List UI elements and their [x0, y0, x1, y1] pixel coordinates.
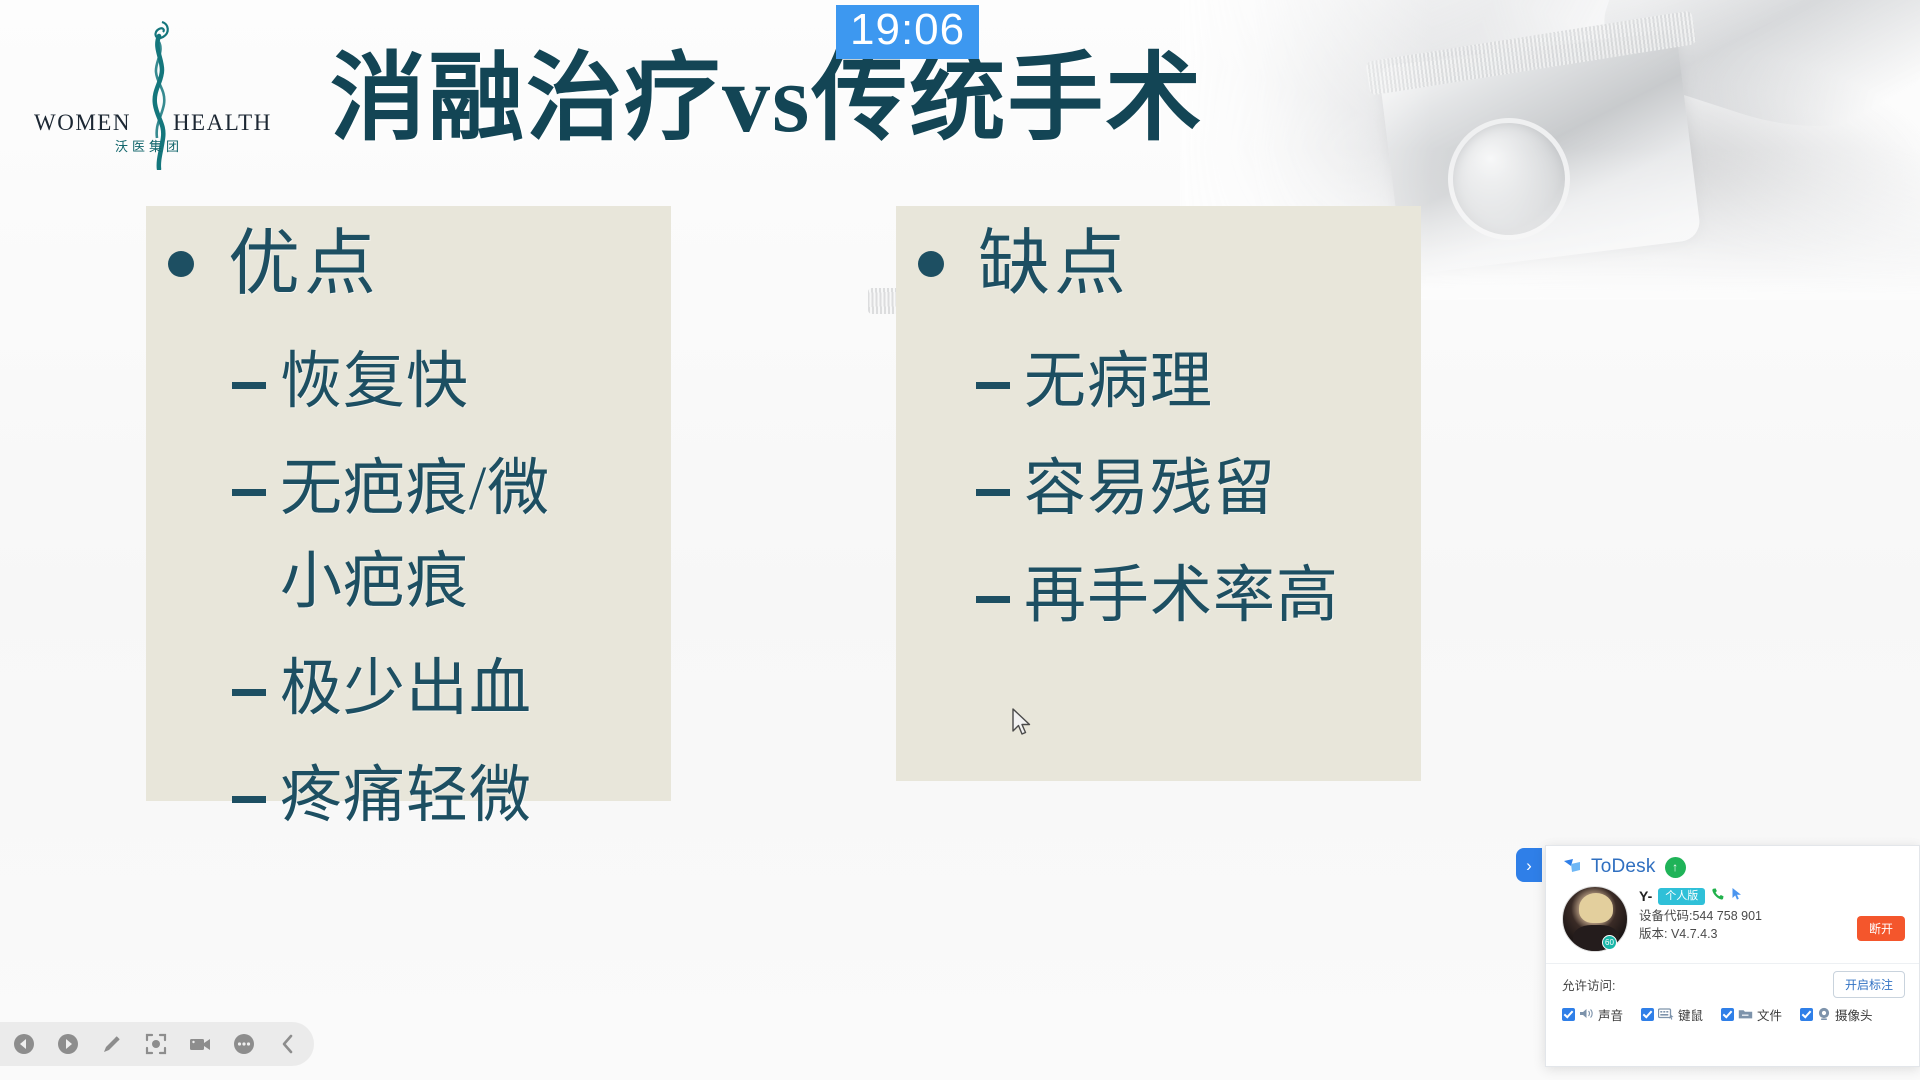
logo-word-left: WOMEN: [34, 110, 131, 135]
permission-files[interactable]: 文件: [1721, 1005, 1782, 1024]
todesk-name-row: Y- 个人版: [1639, 886, 1907, 907]
screen: WOMENHEALTH 沃医集团 消融治疗vs传统手术 19:06 优点 恢复快…: [0, 0, 1920, 1080]
enable-annotation-button[interactable]: 开启标注: [1833, 971, 1905, 998]
advantages-panel: 优点 恢复快 无疤痕/微小疤痕 极少出血 疼痛轻微: [146, 206, 671, 801]
list-item-label: 容易残留: [1024, 443, 1276, 536]
allow-access-label: 允许访问:: [1562, 975, 1615, 994]
screenshot-icon[interactable]: [144, 1032, 168, 1056]
avatar-hair: [1579, 893, 1613, 923]
disadvantages-list: 无病理 容易残留 再手术率高: [976, 336, 1406, 657]
disadvantages-heading-label: 缺点: [978, 228, 1130, 300]
speaker-icon: [1579, 1007, 1594, 1022]
time-badge: 19:06: [836, 5, 979, 59]
list-item: 疼痛轻微: [232, 750, 662, 843]
todesk-logo-icon: [1562, 857, 1582, 877]
logo-chinese-subtitle: 沃医集团: [34, 136, 264, 155]
remote-pointer-icon[interactable]: [1731, 887, 1744, 906]
list-item-label: 疼痛轻微: [280, 750, 532, 843]
edition-badge: 个人版: [1658, 888, 1705, 905]
presentation-toolbar[interactable]: [0, 1022, 314, 1066]
logo-word-right: HEALTH: [173, 110, 272, 135]
dash-icon: [232, 382, 266, 389]
todesk-panel[interactable]: ToDesk ↑ 60 Y- 个人版: [1545, 845, 1920, 1067]
permission-camera[interactable]: 摄像头: [1800, 1005, 1873, 1024]
todesk-header: ToDesk ↑: [1546, 846, 1919, 880]
dash-icon: [976, 489, 1010, 496]
list-item: 容易残留: [976, 443, 1406, 536]
files-label: 文件: [1757, 1005, 1782, 1024]
company-logo: WOMENHEALTH 沃医集团: [34, 18, 264, 168]
dash-icon: [976, 382, 1010, 389]
disadvantages-heading: 缺点: [918, 228, 1130, 300]
chevron-right-icon: ›: [1526, 857, 1532, 874]
list-item: 无病理: [976, 336, 1406, 429]
avatar-level-badge: 60: [1602, 935, 1617, 950]
sound-label: 声音: [1598, 1005, 1623, 1024]
logo-wordmark: WOMENHEALTH: [34, 110, 264, 136]
dash-icon: [976, 596, 1010, 603]
todesk-access-row: 允许访问: 开启标注: [1546, 964, 1919, 1000]
advantages-heading-label: 优点: [228, 228, 380, 300]
keyboard-icon: [1658, 1008, 1674, 1022]
files-checkbox[interactable]: [1721, 1008, 1734, 1021]
upgrade-arrow-glyph: ↑: [1672, 861, 1678, 873]
todesk-collapse-tab[interactable]: ›: [1516, 848, 1542, 882]
more-icon[interactable]: [232, 1032, 256, 1056]
camera-label: 摄像头: [1835, 1005, 1873, 1024]
avatar[interactable]: [1562, 886, 1628, 952]
bullet-dot-icon: [168, 251, 194, 277]
keyboard-mouse-label: 键鼠: [1678, 1005, 1703, 1024]
previous-icon[interactable]: [12, 1032, 36, 1056]
list-item-label: 无病理: [1024, 336, 1213, 429]
todesk-permissions: 声音 键鼠 文件 摄像头: [1546, 1000, 1919, 1032]
phone-icon[interactable]: [1711, 886, 1725, 907]
permission-keyboard-mouse[interactable]: 键鼠: [1641, 1005, 1703, 1024]
webcam-icon: [1817, 1007, 1831, 1023]
list-item: 再手术率高: [976, 550, 1406, 643]
disconnect-button[interactable]: 断开: [1857, 916, 1905, 941]
collapse-icon[interactable]: [276, 1032, 300, 1056]
todesk-user-section: 60 Y- 个人版 设备代码:544 758 901 版本: V4.7.4.3 …: [1546, 880, 1919, 952]
list-item-label: 无疤痕/微小疤痕: [280, 443, 600, 629]
user-name: Y-: [1639, 886, 1652, 907]
dash-icon: [232, 689, 266, 696]
keyboard-mouse-checkbox[interactable]: [1641, 1008, 1654, 1021]
list-item-label: 极少出血: [280, 643, 532, 736]
camera-checkbox[interactable]: [1800, 1008, 1813, 1021]
disadvantages-panel: 缺点 无病理 容易残留 再手术率高: [896, 206, 1421, 781]
dash-icon: [232, 489, 266, 496]
list-item-label: 再手术率高: [1024, 550, 1339, 643]
advantages-list: 恢复快 无疤痕/微小疤痕 极少出血 疼痛轻微: [232, 336, 662, 857]
next-icon[interactable]: [56, 1032, 80, 1056]
advantages-heading: 优点: [168, 228, 380, 300]
list-item-label: 恢复快: [280, 336, 469, 429]
todesk-brand-label: ToDesk: [1591, 856, 1656, 878]
sound-checkbox[interactable]: [1562, 1008, 1575, 1021]
folder-icon: [1738, 1008, 1753, 1022]
list-item: 恢复快: [232, 336, 662, 429]
camera-icon[interactable]: [188, 1032, 212, 1056]
upgrade-icon[interactable]: ↑: [1665, 857, 1686, 878]
list-item: 极少出血: [232, 643, 662, 736]
dash-icon: [232, 796, 266, 803]
slide-title: 消融治疗vs传统手术: [330, 48, 1450, 150]
list-item: 无疤痕/微小疤痕: [232, 443, 662, 629]
permission-sound[interactable]: 声音: [1562, 1005, 1623, 1024]
pen-icon[interactable]: [100, 1032, 124, 1056]
bullet-dot-icon: [918, 251, 944, 277]
